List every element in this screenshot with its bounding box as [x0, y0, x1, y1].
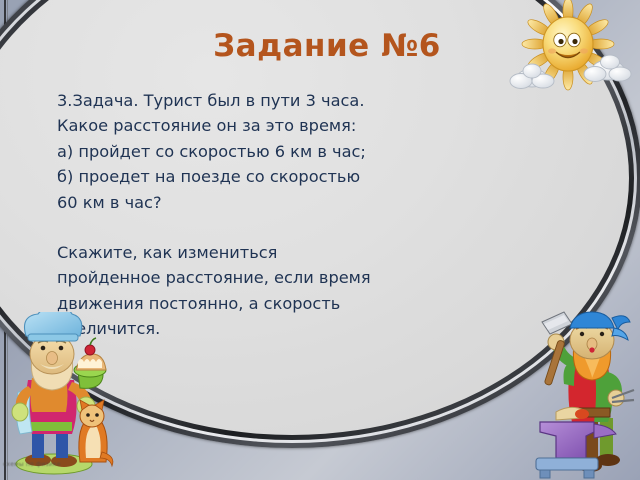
task-paragraph-1: 3.Задача. Турист был в пути 3 часа. Како…: [57, 88, 507, 215]
presentation-slide: Задание №6 3.Задача. Турист был в пути 3…: [0, 0, 640, 480]
cake-icon: [74, 338, 106, 388]
gnome-blacksmith-icon: [534, 300, 638, 480]
sun-icon: [500, 0, 640, 114]
cat-icon: [79, 400, 113, 466]
watermark-text: схемы по физике: [3, 461, 75, 472]
cloud-left: [510, 64, 554, 89]
gnome-chef-icon: [2, 312, 126, 478]
sun-face: [543, 17, 593, 71]
